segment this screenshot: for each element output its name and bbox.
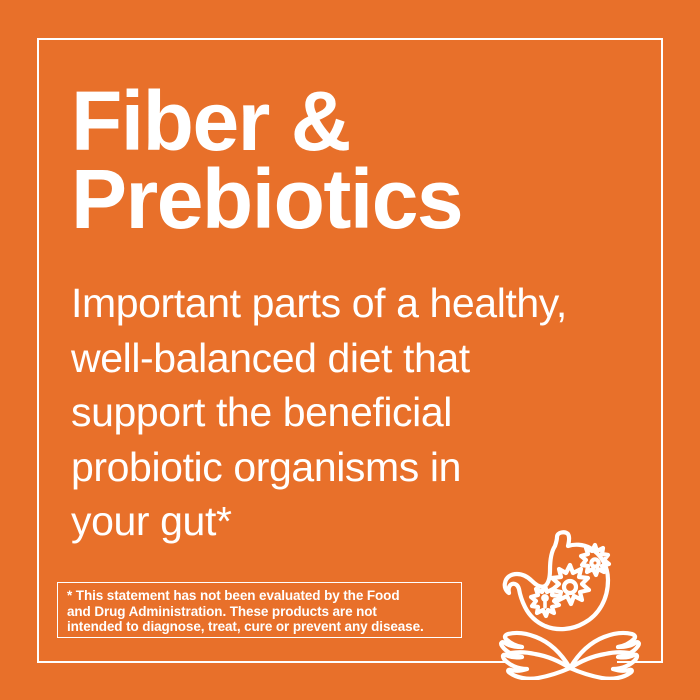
- page-title-line-2: Prebiotics: [71, 160, 631, 238]
- stomach-gut-microbiome-leaves-icon: [495, 525, 645, 680]
- microbe-medium: [581, 545, 609, 575]
- frame-left-border: [37, 38, 39, 663]
- body-copy-line-2: well-balanced diet that: [71, 331, 651, 386]
- body-copy-line-3: support the beneficial: [71, 385, 651, 440]
- body-copy-line-4: probiotic organisms in: [71, 440, 651, 495]
- poster-canvas: Fiber & Prebiotics Important parts of a …: [0, 0, 700, 700]
- fda-disclaimer-line-1: * This statement has not been evaluated …: [67, 588, 453, 604]
- microbe-small: [531, 586, 559, 616]
- frame-bottom-border-left: [37, 661, 506, 663]
- leaf-right: [570, 633, 639, 679]
- page-title-line-1: Fiber &: [71, 82, 631, 160]
- fda-disclaimer-box: * This statement has not been evaluated …: [57, 582, 462, 638]
- body-copy-line-1: Important parts of a healthy,: [71, 276, 651, 331]
- frame-top-border: [37, 38, 663, 40]
- fda-disclaimer-line-2: and Drug Administration. These products …: [67, 604, 453, 620]
- fda-disclaimer-line-3: intended to diagnose, treat, cure or pre…: [67, 619, 453, 635]
- body-copy: Important parts of a healthy, well-balan…: [71, 276, 651, 549]
- frame-right-border: [661, 38, 663, 663]
- leaf-left: [501, 633, 570, 679]
- page-title: Fiber & Prebiotics: [71, 82, 631, 238]
